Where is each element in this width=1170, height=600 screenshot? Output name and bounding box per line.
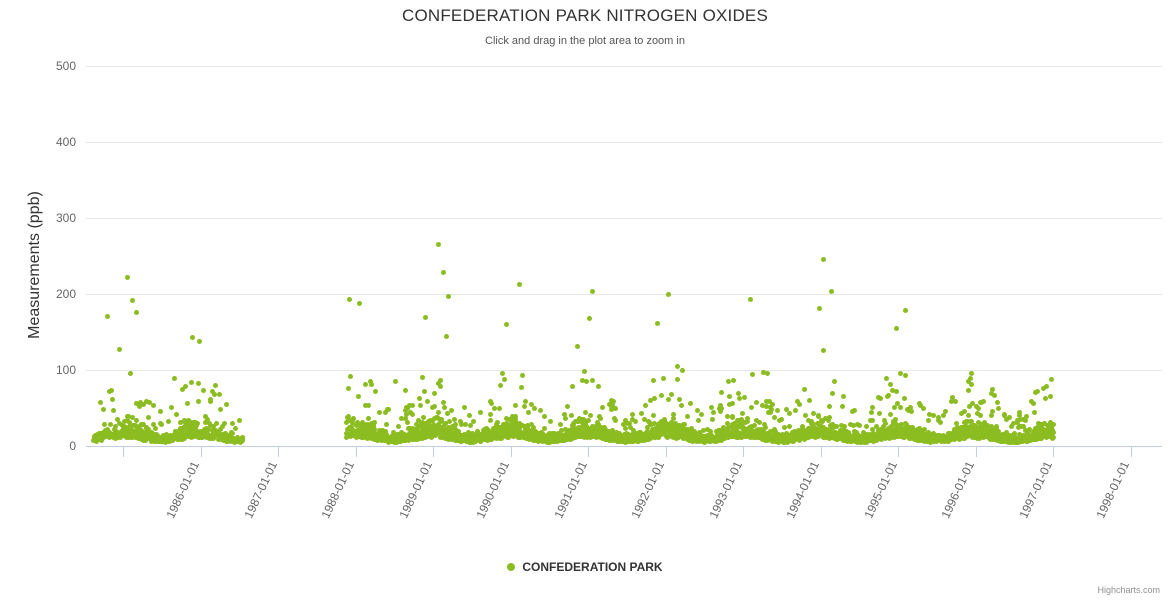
data-point[interactable]	[902, 396, 907, 401]
data-point[interactable]	[740, 411, 745, 416]
x-axis-line	[86, 446, 1162, 447]
data-point[interactable]	[655, 321, 660, 326]
data-point[interactable]	[1031, 401, 1036, 406]
data-point[interactable]	[894, 389, 899, 394]
data-point[interactable]	[462, 405, 467, 410]
data-point[interactable]	[201, 388, 206, 393]
data-point[interactable]	[442, 405, 447, 410]
data-point[interactable]	[230, 421, 235, 426]
chart-legend: CONFEDERATION PARK	[0, 558, 1170, 576]
data-point[interactable]	[420, 375, 425, 380]
data-point[interactable]	[1051, 430, 1056, 435]
data-point[interactable]	[996, 406, 1001, 411]
data-point[interactable]	[432, 391, 437, 396]
data-point[interactable]	[898, 405, 903, 410]
data-point[interactable]	[675, 377, 680, 382]
data-point[interactable]	[894, 326, 899, 331]
data-point[interactable]	[217, 392, 222, 397]
y-axis-label-400: 400	[16, 136, 76, 148]
data-point[interactable]	[990, 409, 995, 414]
data-point[interactable]	[1051, 435, 1056, 440]
data-point[interactable]	[730, 401, 735, 406]
data-point[interactable]	[731, 378, 736, 383]
data-point[interactable]	[542, 426, 547, 431]
data-point[interactable]	[196, 399, 201, 404]
data-point[interactable]	[1051, 422, 1056, 427]
data-point[interactable]	[575, 344, 580, 349]
y-axis-label-200: 200	[16, 288, 76, 300]
x-axis-tick-1992-01-01	[588, 447, 589, 457]
data-point[interactable]	[719, 406, 724, 411]
data-point[interactable]	[1049, 377, 1054, 382]
data-point[interactable]	[1048, 394, 1053, 399]
data-point[interactable]	[710, 417, 715, 422]
x-axis-label-1988-01-01: 1988-01-01	[318, 459, 357, 521]
data-point[interactable]	[840, 404, 845, 409]
data-point[interactable]	[1044, 384, 1049, 389]
data-point[interactable]	[208, 399, 213, 404]
x-axis-tick-1998-01-01	[1053, 447, 1054, 457]
data-point[interactable]	[981, 399, 986, 404]
data-point[interactable]	[1007, 415, 1012, 420]
data-point[interactable]	[769, 407, 774, 412]
data-point[interactable]	[373, 389, 378, 394]
data-point[interactable]	[146, 415, 151, 420]
data-point[interactable]	[870, 405, 875, 410]
data-point[interactable]	[1023, 418, 1028, 423]
data-point[interactable]	[677, 397, 682, 402]
x-axis-label-1989-01-01: 1989-01-01	[396, 459, 435, 521]
data-point[interactable]	[214, 421, 219, 426]
data-point[interactable]	[488, 418, 493, 423]
data-point[interactable]	[588, 413, 593, 418]
data-point[interactable]	[832, 379, 837, 384]
data-point[interactable]	[130, 298, 135, 303]
data-point[interactable]	[504, 322, 509, 327]
data-point[interactable]	[237, 418, 242, 423]
y-axis-label-100: 100	[16, 364, 76, 376]
data-point[interactable]	[830, 391, 835, 396]
data-point[interactable]	[727, 394, 732, 399]
data-point[interactable]	[765, 371, 770, 376]
data-point[interactable]	[197, 339, 202, 344]
data-point[interactable]	[966, 388, 971, 393]
data-point[interactable]	[347, 297, 352, 302]
data-point[interactable]	[978, 413, 983, 418]
gridline-y-200	[86, 294, 1162, 295]
x-axis-label-1998-01-01: 1998-01-01	[1093, 459, 1132, 521]
data-point[interactable]	[903, 308, 908, 313]
data-point[interactable]	[869, 410, 874, 415]
data-point[interactable]	[520, 373, 525, 378]
x-axis-label-1987-01-01: 1987-01-01	[241, 459, 280, 521]
data-point[interactable]	[230, 431, 235, 436]
data-point[interactable]	[584, 379, 589, 384]
data-point[interactable]	[218, 407, 223, 412]
data-point[interactable]	[878, 396, 883, 401]
data-point[interactable]	[357, 301, 362, 306]
x-axis-label-1991-01-01: 1991-01-01	[551, 459, 590, 521]
data-point[interactable]	[563, 416, 568, 421]
data-point[interactable]	[737, 396, 742, 401]
data-point[interactable]	[679, 403, 684, 408]
data-point[interactable]	[423, 315, 428, 320]
y-axis-label-0: 0	[16, 440, 76, 452]
chart-subtitle: Click and drag in the plot area to zoom …	[0, 35, 1170, 47]
data-point[interactable]	[384, 422, 389, 427]
data-point[interactable]	[976, 406, 981, 411]
data-point[interactable]	[111, 408, 116, 413]
data-point[interactable]	[502, 377, 507, 382]
data-point[interactable]	[233, 426, 238, 431]
data-point[interactable]	[827, 415, 832, 420]
data-point[interactable]	[782, 425, 787, 430]
data-point[interactable]	[500, 371, 505, 376]
data-point[interactable]	[680, 368, 685, 373]
x-axis-label-1993-01-01: 1993-01-01	[706, 459, 745, 521]
data-point[interactable]	[787, 424, 792, 429]
data-point[interactable]	[98, 400, 103, 405]
data-point[interactable]	[1035, 389, 1040, 394]
data-point[interactable]	[659, 393, 664, 398]
data-point[interactable]	[1032, 410, 1037, 415]
data-point[interactable]	[542, 414, 547, 419]
data-point[interactable]	[110, 397, 115, 402]
data-point[interactable]	[405, 420, 410, 425]
data-point[interactable]	[212, 392, 217, 397]
gridline-y-100	[86, 370, 1162, 371]
data-point[interactable]	[651, 413, 656, 418]
x-axis-tick-1986-01-01	[123, 447, 124, 457]
data-point[interactable]	[185, 401, 190, 406]
x-axis-tick-1995-01-01	[821, 447, 822, 457]
data-point[interactable]	[969, 382, 974, 387]
data-point[interactable]	[436, 410, 441, 415]
data-point[interactable]	[969, 371, 974, 376]
data-point[interactable]	[372, 420, 377, 425]
data-point[interactable]	[222, 421, 227, 426]
x-axis-label-1996-01-01: 1996-01-01	[938, 459, 977, 521]
data-point[interactable]	[600, 405, 605, 410]
data-point[interactable]	[421, 415, 426, 420]
data-point[interactable]	[125, 275, 130, 280]
data-point[interactable]	[128, 371, 133, 376]
data-point[interactable]	[363, 382, 368, 387]
gridline-y-400	[86, 142, 1162, 143]
data-point[interactable]	[779, 417, 784, 422]
data-point[interactable]	[941, 413, 946, 418]
data-point[interactable]	[159, 422, 164, 427]
data-point[interactable]	[348, 374, 353, 379]
data-point[interactable]	[410, 403, 415, 408]
data-point[interactable]	[356, 394, 361, 399]
data-point[interactable]	[770, 402, 775, 407]
x-axis-label-1992-01-01: 1992-01-01	[628, 459, 667, 521]
data-point[interactable]	[425, 399, 430, 404]
data-point[interactable]	[852, 408, 857, 413]
data-point[interactable]	[436, 242, 441, 247]
data-point[interactable]	[666, 292, 671, 297]
x-axis-tick-1987-01-01	[201, 447, 202, 457]
data-point[interactable]	[651, 378, 656, 383]
data-point[interactable]	[968, 376, 973, 381]
data-point[interactable]	[892, 405, 897, 410]
data-point[interactable]	[526, 410, 531, 415]
data-point[interactable]	[888, 412, 893, 417]
data-point[interactable]	[685, 414, 690, 419]
data-point[interactable]	[417, 396, 422, 401]
data-point[interactable]	[748, 297, 753, 302]
data-point[interactable]	[857, 423, 862, 428]
data-point[interactable]	[153, 426, 158, 431]
data-point[interactable]	[1024, 414, 1029, 419]
x-axis-tick-1990-01-01	[433, 447, 434, 457]
data-point[interactable]	[926, 418, 931, 423]
data-point[interactable]	[117, 347, 122, 352]
data-point[interactable]	[827, 404, 832, 409]
data-point[interactable]	[596, 384, 601, 389]
x-axis-tick-1988-01-01	[278, 447, 279, 457]
data-point[interactable]	[817, 306, 822, 311]
data-point[interactable]	[807, 398, 812, 403]
data-point[interactable]	[558, 422, 563, 427]
data-point[interactable]	[109, 388, 114, 393]
data-point[interactable]	[513, 403, 518, 408]
data-point[interactable]	[169, 405, 174, 410]
data-point[interactable]	[590, 289, 595, 294]
gridline-y-300	[86, 218, 1162, 219]
data-point[interactable]	[101, 407, 106, 412]
plot-area[interactable]	[86, 66, 1162, 446]
y-axis-label-300: 300	[16, 212, 76, 224]
data-point[interactable]	[587, 316, 592, 321]
data-point[interactable]	[921, 406, 926, 411]
data-point[interactable]	[613, 418, 618, 423]
data-point[interactable]	[586, 418, 591, 423]
legend-marker-icon	[507, 563, 515, 571]
x-axis-label-1997-01-01: 1997-01-01	[1016, 459, 1055, 521]
data-point[interactable]	[393, 379, 398, 384]
data-point[interactable]	[598, 416, 603, 421]
x-axis-tick-1996-01-01	[898, 447, 899, 457]
data-point[interactable]	[196, 381, 201, 386]
data-point[interactable]	[938, 420, 943, 425]
data-point[interactable]	[888, 382, 893, 387]
legend-item-label: CONFEDERATION PARK	[522, 560, 662, 574]
data-point[interactable]	[886, 393, 891, 398]
data-point[interactable]	[803, 413, 808, 418]
data-point[interactable]	[775, 408, 780, 413]
data-point[interactable]	[745, 419, 750, 424]
x-axis-tick-1994-01-01	[743, 447, 744, 457]
data-point[interactable]	[787, 411, 792, 416]
data-point[interactable]	[418, 403, 423, 408]
data-point[interactable]	[422, 389, 427, 394]
data-point[interactable]	[661, 376, 666, 381]
data-point[interactable]	[821, 348, 826, 353]
data-point[interactable]	[821, 257, 826, 262]
data-point[interactable]	[699, 412, 704, 417]
data-point[interactable]	[763, 425, 768, 430]
data-point[interactable]	[410, 412, 415, 417]
y-axis-label-500: 500	[16, 60, 76, 72]
data-point[interactable]	[471, 419, 476, 424]
data-point[interactable]	[569, 413, 574, 418]
data-point[interactable]	[386, 407, 391, 412]
data-point[interactable]	[478, 410, 483, 415]
data-point[interactable]	[841, 394, 846, 399]
data-point[interactable]	[441, 270, 446, 275]
data-point[interactable]	[793, 408, 798, 413]
data-point[interactable]	[498, 383, 503, 388]
data-point[interactable]	[396, 424, 401, 429]
data-point[interactable]	[403, 388, 408, 393]
data-point[interactable]	[953, 399, 958, 404]
data-point[interactable]	[519, 385, 524, 390]
data-point[interactable]	[903, 373, 908, 378]
data-point[interactable]	[750, 372, 755, 377]
data-point[interactable]	[864, 424, 869, 429]
data-point[interactable]	[548, 419, 553, 424]
data-point[interactable]	[613, 406, 618, 411]
credits-link[interactable]: Highcharts.com	[1097, 585, 1160, 595]
gridline-y-500	[86, 66, 1162, 67]
x-axis-label-1986-01-01: 1986-01-01	[163, 459, 202, 521]
data-point[interactable]	[877, 411, 882, 416]
data-point[interactable]	[992, 393, 997, 398]
data-point[interactable]	[224, 402, 229, 407]
data-point[interactable]	[990, 387, 995, 392]
data-point[interactable]	[742, 395, 747, 400]
y-axis-title: Measurements (ppb)	[26, 145, 44, 385]
data-point[interactable]	[432, 404, 437, 409]
data-point[interactable]	[754, 400, 759, 405]
data-point[interactable]	[711, 410, 716, 415]
data-point[interactable]	[213, 383, 218, 388]
data-point[interactable]	[623, 426, 628, 431]
data-point[interactable]	[517, 282, 522, 287]
data-point[interactable]	[802, 387, 807, 392]
data-point[interactable]	[884, 376, 889, 381]
chart-title: CONFEDERATION PARK NITROGEN OXIDES	[0, 6, 1170, 26]
data-point[interactable]	[757, 420, 762, 425]
x-axis-tick-1991-01-01	[511, 447, 512, 457]
data-point[interactable]	[366, 416, 371, 421]
data-point[interactable]	[688, 401, 693, 406]
data-point[interactable]	[444, 334, 449, 339]
data-point[interactable]	[590, 378, 595, 383]
data-point[interactable]	[488, 412, 493, 417]
legend-item-confederation-park[interactable]: CONFEDERATION PARK	[507, 560, 662, 574]
data-point[interactable]	[995, 400, 1000, 405]
data-point[interactable]	[467, 413, 472, 418]
data-point[interactable]	[366, 403, 371, 408]
data-point[interactable]	[522, 404, 527, 409]
data-point[interactable]	[189, 380, 194, 385]
data-point[interactable]	[438, 378, 443, 383]
data-point[interactable]	[633, 419, 638, 424]
data-point[interactable]	[497, 406, 502, 411]
data-point[interactable]	[639, 411, 644, 416]
data-point[interactable]	[195, 421, 200, 426]
data-point[interactable]	[582, 369, 587, 374]
data-point[interactable]	[492, 406, 497, 411]
data-point[interactable]	[369, 382, 374, 387]
data-point[interactable]	[719, 390, 724, 395]
data-point[interactable]	[346, 386, 351, 391]
data-point[interactable]	[174, 412, 179, 417]
data-point[interactable]	[909, 409, 914, 414]
data-point[interactable]	[570, 384, 575, 389]
data-point[interactable]	[696, 418, 701, 423]
data-point[interactable]	[565, 404, 570, 409]
data-point[interactable]	[190, 335, 195, 340]
x-axis-tick-1999-01-01	[1131, 447, 1132, 457]
data-point[interactable]	[538, 408, 543, 413]
x-axis-tick-1989-01-01	[356, 447, 357, 457]
data-point[interactable]	[943, 409, 948, 414]
data-point[interactable]	[446, 294, 451, 299]
data-point[interactable]	[449, 408, 454, 413]
data-point[interactable]	[166, 419, 171, 424]
data-point[interactable]	[666, 397, 671, 402]
data-point[interactable]	[749, 405, 754, 410]
data-point[interactable]	[377, 410, 382, 415]
data-point[interactable]	[240, 438, 245, 443]
x-axis-label-1994-01-01: 1994-01-01	[783, 459, 822, 521]
data-point[interactable]	[797, 402, 802, 407]
data-point[interactable]	[675, 364, 680, 369]
x-axis-tick-1997-01-01	[976, 447, 977, 457]
data-point[interactable]	[151, 403, 156, 408]
data-point[interactable]	[134, 310, 139, 315]
data-point[interactable]	[134, 418, 139, 423]
data-point[interactable]	[611, 399, 616, 404]
data-point[interactable]	[523, 399, 528, 404]
x-axis-label-1990-01-01: 1990-01-01	[473, 459, 512, 521]
data-point[interactable]	[532, 406, 537, 411]
x-axis-tick-1993-01-01	[666, 447, 667, 457]
data-point[interactable]	[966, 413, 971, 418]
data-point[interactable]	[172, 376, 177, 381]
data-point[interactable]	[652, 396, 657, 401]
highcharts-container: CONFEDERATION PARK NITROGEN OXIDES Click…	[0, 0, 1170, 600]
data-point[interactable]	[438, 384, 443, 389]
data-point[interactable]	[158, 409, 163, 414]
data-point[interactable]	[643, 403, 648, 408]
data-point[interactable]	[183, 384, 188, 389]
x-axis-label-1995-01-01: 1995-01-01	[861, 459, 900, 521]
data-point[interactable]	[105, 314, 110, 319]
data-point[interactable]	[870, 418, 875, 423]
